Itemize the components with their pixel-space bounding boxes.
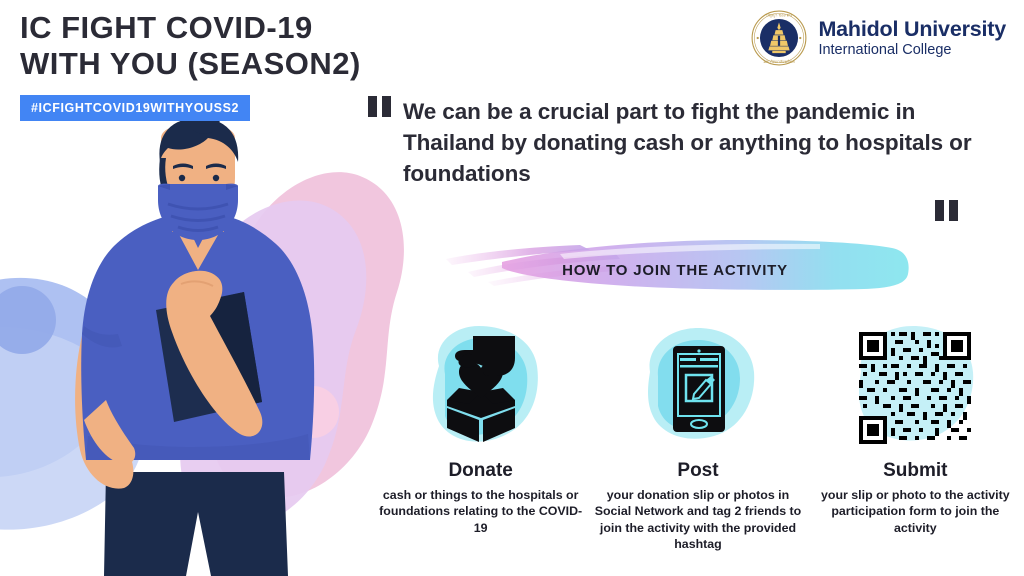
step-donate: Donate cash or things to the hospitals o… bbox=[372, 318, 589, 536]
step-donate-description: cash or things to the hospitals or found… bbox=[372, 487, 589, 536]
hand-heart-donation-box-icon bbox=[411, 318, 551, 458]
smartphone-compose-icon bbox=[628, 318, 768, 458]
svg-text:ปญญา ของ ตน: ปญญา ของ ตน bbox=[767, 13, 793, 18]
title-block: IC FIGHT COVID-19 WITH YOU (SEASON2) #IC… bbox=[20, 10, 420, 121]
step-post: Post your donation slip or photos in Soc… bbox=[589, 318, 806, 553]
nurse-eye-right bbox=[213, 175, 219, 181]
svg-text:มหาวิทยาลัยมหิดล: มหาวิทยาลัยมหิดล bbox=[764, 59, 796, 64]
nurse-illustration bbox=[48, 120, 348, 576]
step-submit-icon-wrap bbox=[807, 318, 1024, 458]
nurse-illustration-svg bbox=[48, 120, 348, 576]
step-post-title: Post bbox=[589, 460, 806, 482]
banner-label: HOW TO JOIN THE ACTIVITY bbox=[440, 262, 910, 279]
how-to-join-banner: HOW TO JOIN THE ACTIVITY bbox=[440, 232, 910, 294]
poster-canvas: IC FIGHT COVID-19 WITH YOU (SEASON2) #IC… bbox=[0, 0, 1024, 576]
nurse-trousers bbox=[104, 472, 288, 576]
logo-university-name: Mahidol University bbox=[818, 18, 1006, 41]
logo-text-block: Mahidol University International College bbox=[818, 18, 1006, 59]
step-post-description: your donation slip or photos in Social N… bbox=[589, 487, 806, 553]
mahidol-logo: ปญญา ของ ตน มหาวิทยาลัยมหิดล Mahidol Uni… bbox=[751, 10, 1006, 66]
mahidol-seal-icon: ปญญา ของ ตน มหาวิทยาลัยมหิดล bbox=[751, 10, 807, 66]
page-title-line-1: IC FIGHT COVID-19 bbox=[20, 10, 420, 46]
step-submit-title: Submit bbox=[807, 460, 1024, 482]
steps-row: Donate cash or things to the hospitals o… bbox=[372, 318, 1024, 553]
step-donate-title: Donate bbox=[372, 460, 589, 482]
quote-close-icon bbox=[935, 200, 958, 221]
page-title-line-2: WITH YOU (SEASON2) bbox=[20, 46, 420, 82]
quote-open-icon bbox=[368, 96, 391, 117]
step-post-icon-wrap bbox=[589, 318, 806, 458]
quote-block: We can be a crucial part to fight the pa… bbox=[368, 96, 988, 189]
quote-text: We can be a crucial part to fight the pa… bbox=[403, 96, 988, 189]
hashtag-badge: #ICFIGHTCOVID19WITHYOUSS2 bbox=[20, 95, 250, 121]
step-submit: Submit your slip or photo to the activit… bbox=[807, 318, 1024, 536]
qr-code-icon bbox=[845, 318, 985, 458]
nurse-eye-left bbox=[179, 175, 185, 181]
logo-college-name: International College bbox=[818, 43, 1006, 58]
step-donate-icon-wrap bbox=[372, 318, 589, 458]
post-glyph bbox=[673, 346, 725, 432]
step-submit-description: your slip or photo to the activity parti… bbox=[807, 487, 1024, 536]
